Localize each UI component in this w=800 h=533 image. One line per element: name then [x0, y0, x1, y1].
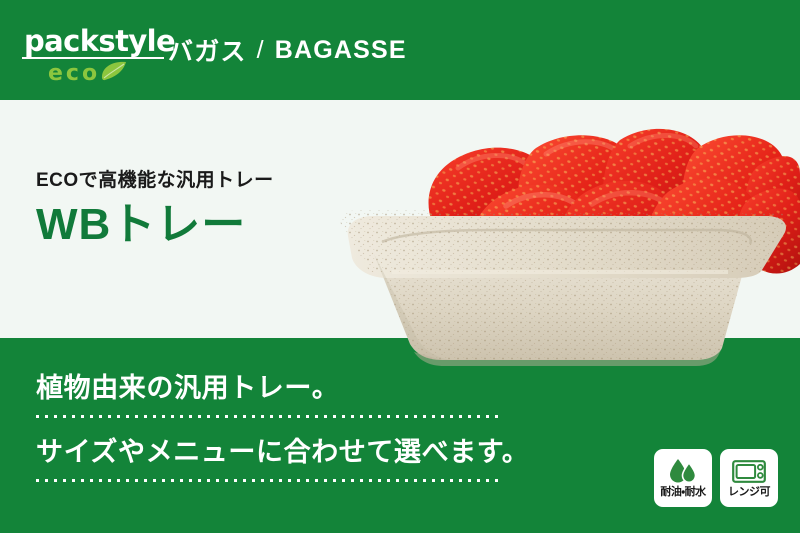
header-subtitle-en: BAGASSE	[275, 36, 407, 65]
logo-eco-text: eco	[48, 63, 100, 85]
logo-wordmark: packstyle	[22, 27, 164, 56]
header-subtitle-separator: /	[247, 36, 275, 65]
feature-badges: 耐油・耐水 レンジ可	[654, 449, 778, 507]
logo-eco-row: eco	[22, 61, 164, 86]
leaf-icon	[101, 61, 127, 86]
claims-block: 植物由来の汎用トレー。 サイズやメニューに合わせて選べます。	[36, 372, 516, 482]
claim-divider-1	[36, 415, 500, 418]
claim-line-1: 植物由来の汎用トレー。	[36, 372, 516, 406]
banner-header: packstyle eco バガス / BAGASSE	[0, 0, 800, 100]
badge-microwave-safe: レンジ可	[720, 449, 778, 507]
badge-oil-water-resistant: 耐油・耐水	[654, 449, 712, 507]
product-eyebrow: ECOで高機能な汎用トレー	[36, 170, 274, 193]
badge-label-microwave: レンジ可	[728, 487, 770, 498]
header-subtitle-ja: バガス	[168, 32, 247, 68]
microwave-icon	[732, 457, 766, 485]
claim-line-2: サイズやメニューに合わせて選べます。	[36, 436, 516, 470]
badge-label-oil-water: 耐油・耐水	[660, 487, 705, 498]
product-copy-block: ECOで高機能な汎用トレー WBトレー	[36, 170, 274, 249]
claim-divider-2	[36, 479, 500, 482]
product-title: WBトレー	[36, 201, 274, 249]
packstyle-eco-logo: packstyle eco	[22, 27, 164, 86]
water-oil-droplets-icon	[667, 457, 699, 485]
header-subtitle: バガス / BAGASSE	[168, 0, 407, 100]
product-banner: packstyle eco バガス / BAGASSE ECOで高機能な汎用トレ…	[0, 0, 800, 533]
